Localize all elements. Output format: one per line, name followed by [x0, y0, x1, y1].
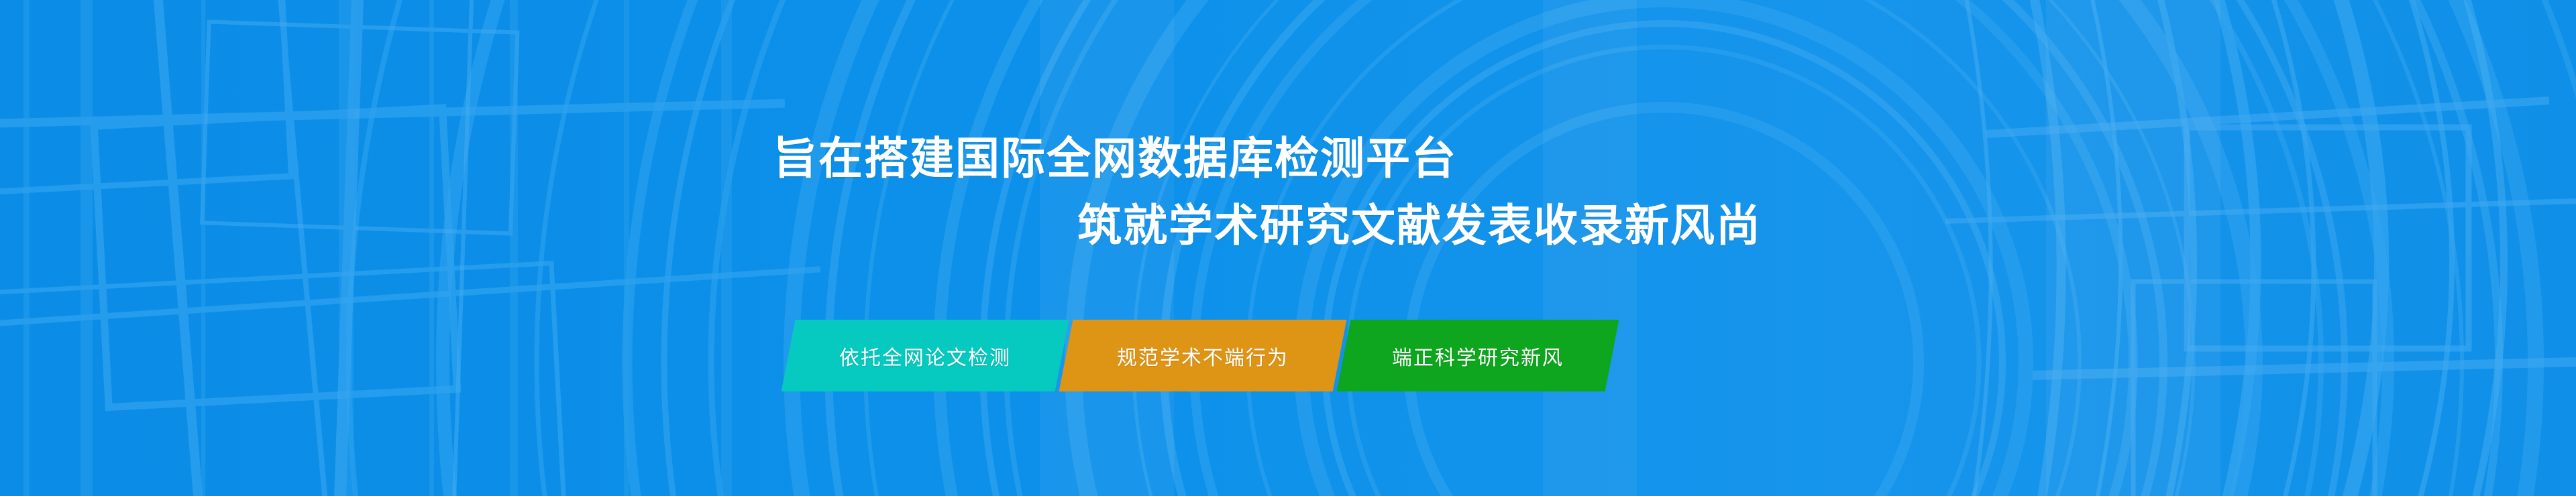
feature-badge-group: 依托全网论文检测 规范学术不端行为 端正科学研究新风: [788, 320, 1612, 391]
feature-badge-label: 端正科学研究新风: [1392, 341, 1564, 371]
promo-banner: 旨在搭建国际全网数据库检测平台 筑就学术研究文献发表收录新风尚 依托全网论文检测…: [0, 0, 2576, 496]
feature-badge-label: 规范学术不端行为: [1117, 341, 1289, 371]
headline-line-1: 旨在搭建国际全网数据库检测平台: [0, 125, 2576, 192]
feature-badge-academic-misconduct[interactable]: 规范学术不端行为: [1059, 320, 1347, 391]
headline-line-2: 筑就学术研究文献发表收录新风尚: [0, 192, 2576, 259]
feature-badge-paper-detection[interactable]: 依托全网论文检测: [782, 320, 1069, 391]
feature-badge-label: 依托全网论文检测: [839, 341, 1011, 371]
feature-badge-research-ethos[interactable]: 端正科学研究新风: [1337, 320, 1619, 391]
headline-block: 旨在搭建国际全网数据库检测平台 筑就学术研究文献发表收录新风尚: [0, 125, 2576, 259]
